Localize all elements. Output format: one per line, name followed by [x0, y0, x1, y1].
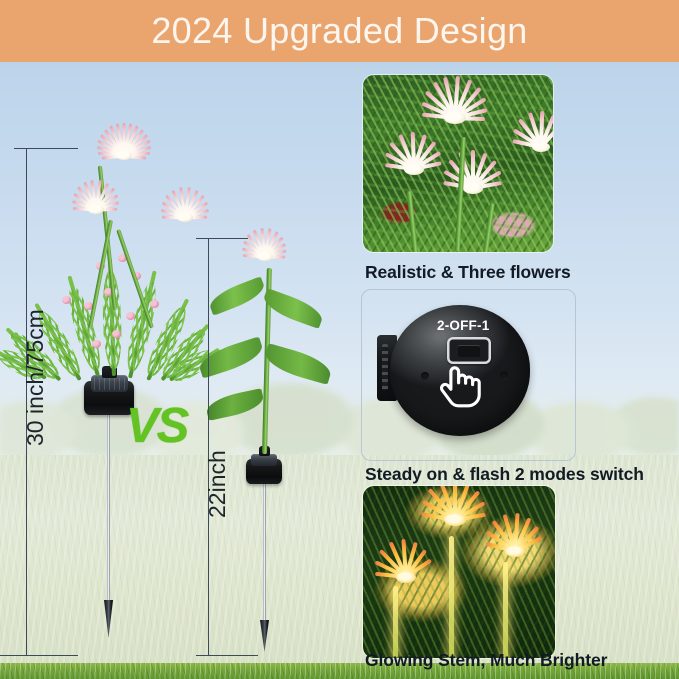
feature-caption-glowing-stem: Glowing Stem, Much Brighter: [365, 650, 607, 671]
berry: [62, 296, 71, 304]
berry: [150, 300, 159, 308]
flower-bloom-1: [86, 132, 162, 180]
stake-rod-left: [107, 410, 110, 605]
berry: [126, 312, 135, 320]
stake-rod-right: [263, 480, 266, 625]
screw-hole-left: [421, 372, 429, 380]
screw-hole-right: [500, 372, 508, 380]
mode-switch-key[interactable]: [458, 345, 480, 357]
feature-caption-realistic-flowers: Realistic & Three flowers: [365, 262, 571, 283]
lawn-background: [0, 455, 679, 671]
headline-text: 2024 Upgraded Design: [151, 10, 527, 52]
feature-photo-realistic-flowers: [363, 75, 553, 252]
pointing-hand-icon: [438, 357, 484, 411]
mode-label: 2-OFF-1: [437, 318, 489, 333]
berry: [92, 340, 101, 348]
flower-bloom-3: [150, 196, 220, 240]
glowing-bloom: [363, 550, 451, 604]
infographic-canvas: 2024 Upgraded Design: [0, 0, 679, 679]
vs-badge: VS: [126, 398, 187, 454]
photo-bloom: [499, 121, 553, 173]
feature-photo-glowing-stem: [363, 486, 555, 658]
glowing-bloom: [471, 524, 555, 578]
flower-bloom-2: [62, 188, 130, 232]
feature-caption-mode-switch: Steady on & flash 2 modes switch: [365, 464, 644, 485]
header-banner: 2024 Upgraded Design: [0, 0, 679, 62]
berry: [112, 330, 121, 338]
flower-bloom-right: [232, 236, 298, 278]
